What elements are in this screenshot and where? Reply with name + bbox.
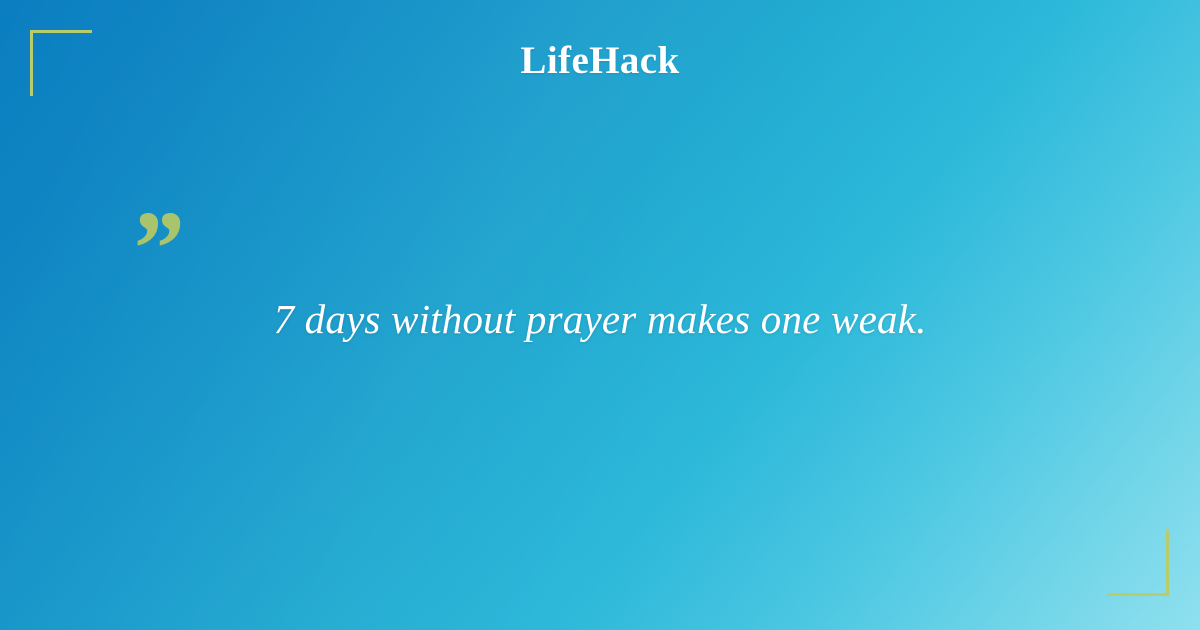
bracket-arm-horizontal xyxy=(30,30,92,33)
brand-logo: LifeHack xyxy=(0,38,1200,84)
bracket-arm-horizontal xyxy=(1107,593,1169,596)
corner-bracket-bottom-right-icon xyxy=(1107,530,1169,596)
quotation-mark-icon: ” xyxy=(128,196,182,304)
quote-text: 7 days without prayer makes one weak. xyxy=(100,292,1100,346)
quote-card: LifeHack ” 7 days without prayer makes o… xyxy=(0,0,1200,630)
bracket-arm-vertical xyxy=(1166,530,1169,596)
